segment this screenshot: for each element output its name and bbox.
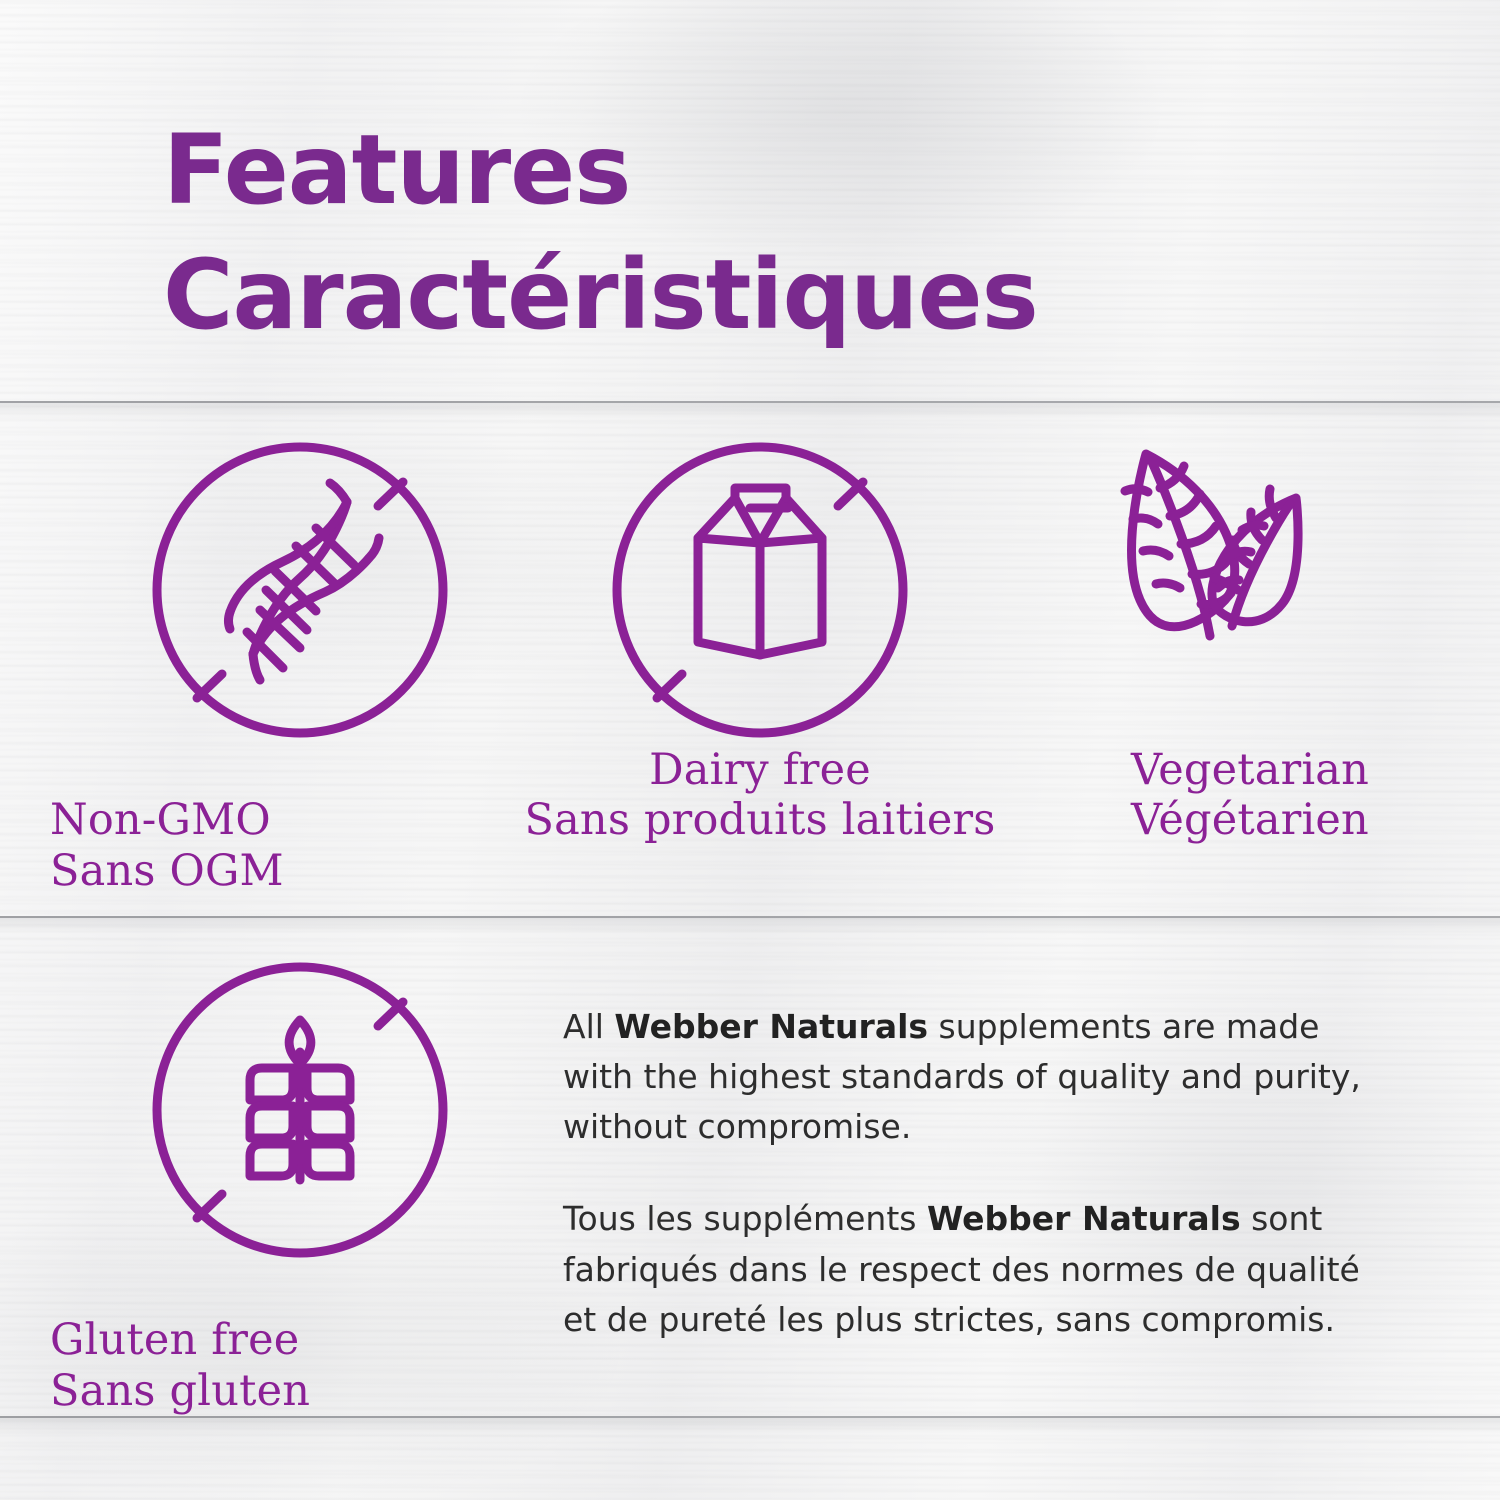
no-dairy-milk-carton-icon: [510, 440, 1010, 745]
feature-label-en: Non-GMO: [50, 795, 550, 845]
feature-caption: Vegetarian Végétarien: [1000, 745, 1500, 846]
page-title-en: Features: [163, 114, 630, 226]
feature-dairy-free: Dairy free Sans produits laitiers: [510, 440, 1010, 846]
plank-seam: [0, 1416, 1500, 1421]
body-copy: All Webber Naturals supplements are made…: [563, 1002, 1363, 1387]
feature-label-en: Vegetarian: [1000, 745, 1500, 795]
feature-non-gmo: Non-GMO Sans OGM: [50, 440, 550, 896]
no-gmo-dna-icon: [50, 440, 550, 745]
no-gluten-wheat-icon: [50, 960, 550, 1265]
feature-vegetarian: Vegetarian Végétarien: [1000, 440, 1500, 846]
poster-canvas: Features Caractéristiques: [0, 0, 1500, 1500]
plank-seam: [0, 916, 1500, 921]
paragraph-en-before: All: [563, 1007, 614, 1046]
feature-label-fr: Sans gluten: [50, 1366, 550, 1416]
page-title-fr: Caractéristiques: [163, 233, 1363, 358]
feature-label-fr: Sans produits laitiers: [510, 795, 1010, 845]
feature-label-en: Gluten free: [50, 1315, 550, 1365]
feature-label-fr: Végétarien: [1000, 795, 1500, 845]
feature-label-fr: Sans OGM: [50, 846, 550, 896]
brand-name-en: Webber Naturals: [614, 1007, 928, 1046]
paragraph-en: All Webber Naturals supplements are made…: [563, 1002, 1363, 1152]
feature-gluten-free: Gluten free Sans gluten: [50, 960, 550, 1416]
paragraph-fr: Tous les suppléments Webber Naturals son…: [563, 1194, 1363, 1344]
paragraph-fr-before: Tous les suppléments: [563, 1199, 927, 1238]
feature-caption: Dairy free Sans produits laitiers: [510, 745, 1010, 846]
feature-label-en: Dairy free: [510, 745, 1010, 795]
brand-name-fr: Webber Naturals: [927, 1199, 1241, 1238]
feature-caption: Non-GMO Sans OGM: [50, 745, 550, 896]
vegetarian-leaves-icon: [1000, 440, 1500, 745]
page-title: Features Caractéristiques: [163, 108, 1363, 358]
feature-caption: Gluten free Sans gluten: [50, 1265, 550, 1416]
plank-seam: [0, 401, 1500, 406]
